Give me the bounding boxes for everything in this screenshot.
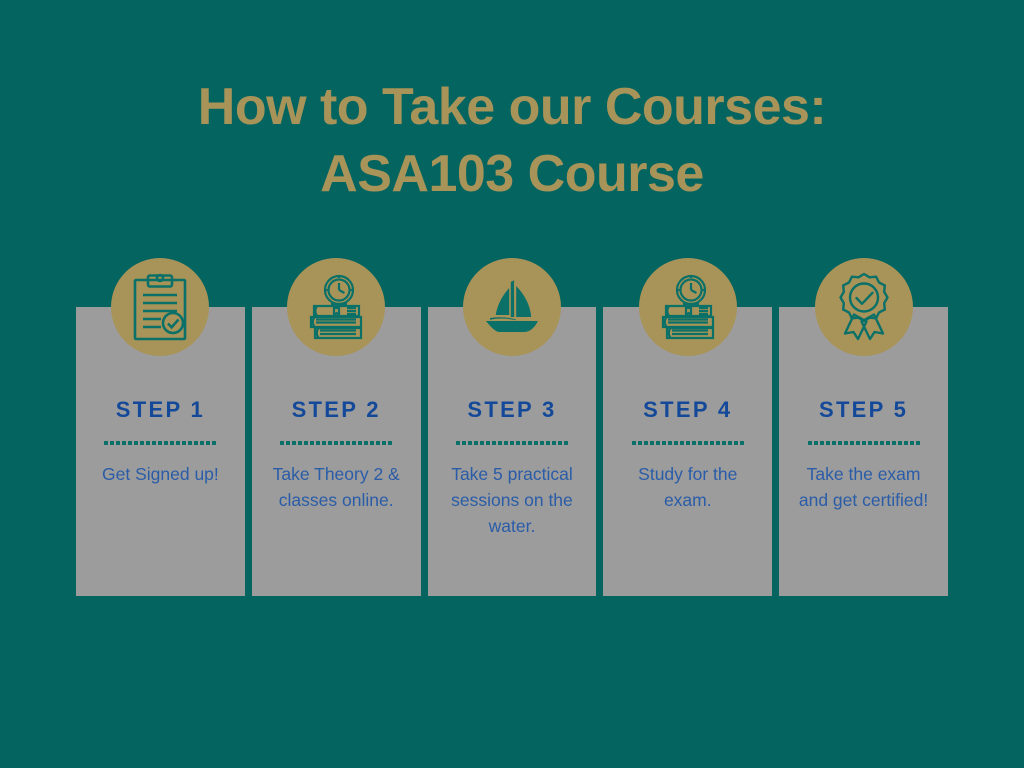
title-line-2: ASA103 Course: [0, 141, 1024, 208]
step-label-3: STEP 3: [467, 397, 556, 423]
step-card-5: STEP 5 Take the exam and get certified!: [779, 307, 948, 596]
dot-divider-4: [632, 440, 744, 445]
step-card-2: STEP 2 Take Theory 2 & classes online.: [252, 307, 421, 596]
clock-on-books-icon: [287, 258, 385, 356]
step-label-5: STEP 5: [819, 397, 908, 423]
step-label-1: STEP 1: [116, 397, 205, 423]
step-description-1: Get Signed up!: [88, 461, 233, 487]
clock-on-books-icon: [639, 258, 737, 356]
step-card-1: STEP 1 Get Signed up!: [76, 307, 245, 596]
dot-divider-3: [456, 440, 568, 445]
clipboard-check-icon: [111, 258, 209, 356]
dot-divider-5: [808, 440, 920, 445]
step-card-3: STEP 3 Take 5 practical sessions on the …: [428, 307, 597, 596]
step-card-4: STEP 4 Study for the exam.: [603, 307, 772, 596]
infographic-canvas: How to Take our Courses: ASA103 Course: [0, 0, 1024, 768]
step-description-3: Take 5 practical sessions on the water.: [439, 461, 584, 539]
step-description-5: Take the exam and get certified!: [791, 461, 936, 513]
step-label-4: STEP 4: [643, 397, 732, 423]
steps-row: STEP 1 Get Signed up!: [76, 307, 948, 596]
dot-divider-2: [280, 440, 392, 445]
title-line-1: How to Take our Courses:: [0, 74, 1024, 141]
sailboat-icon: [463, 258, 561, 356]
step-description-4: Study for the exam.: [615, 461, 760, 513]
page-title: How to Take our Courses: ASA103 Course: [0, 74, 1024, 208]
dot-divider-1: [104, 440, 216, 445]
step-label-2: STEP 2: [292, 397, 381, 423]
award-ribbon-check-icon: [815, 258, 913, 356]
step-description-2: Take Theory 2 & classes online.: [264, 461, 409, 513]
